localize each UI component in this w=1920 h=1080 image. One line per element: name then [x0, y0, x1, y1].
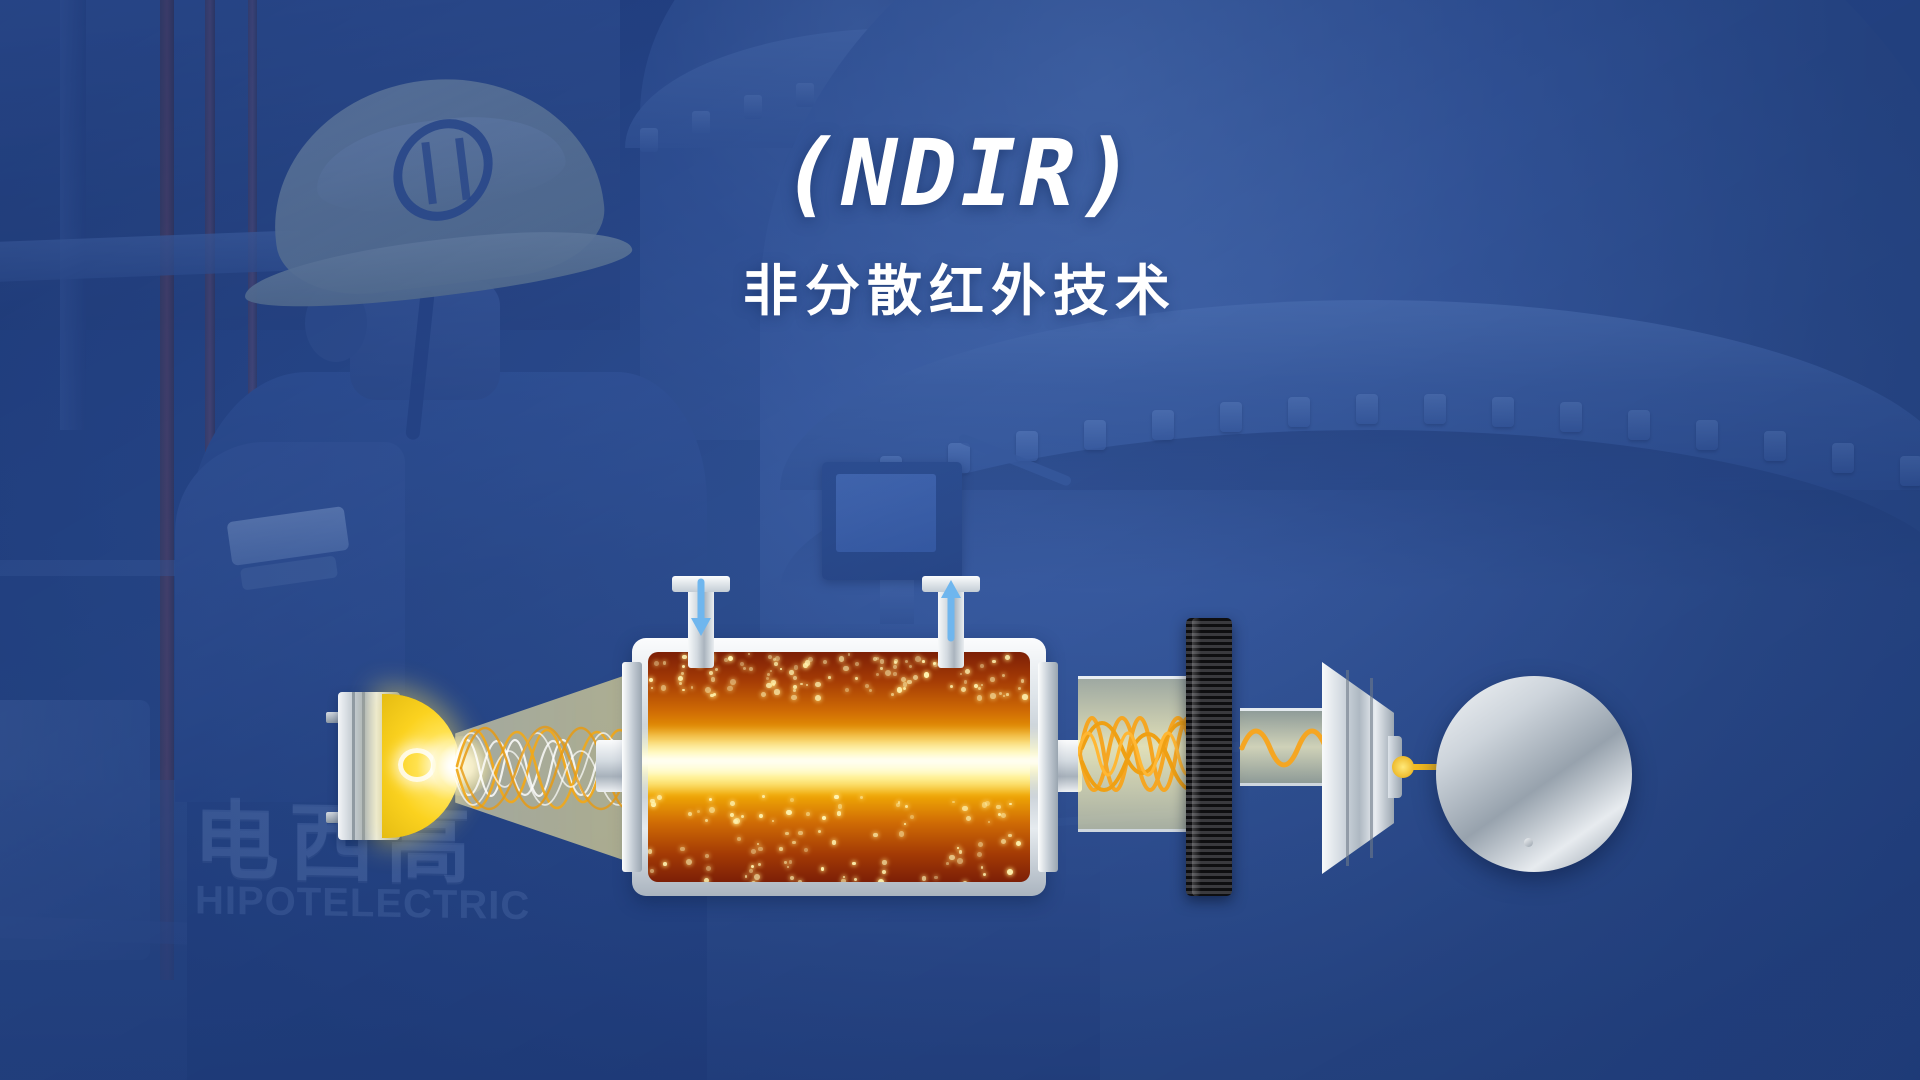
gas-molecule — [771, 680, 776, 685]
gas-molecule — [860, 796, 863, 799]
gas-molecule — [791, 695, 797, 701]
gas-molecule — [910, 815, 914, 819]
gas-molecule — [996, 805, 1001, 810]
gas-molecule — [804, 848, 808, 852]
gas-molecule — [876, 673, 879, 676]
gas-molecule — [960, 673, 963, 676]
gas-molecule — [767, 673, 770, 676]
gas-molecule — [748, 653, 750, 655]
gas-molecule — [697, 810, 700, 813]
gas-molecule — [905, 660, 908, 663]
gas-molecule — [786, 810, 792, 816]
gas-molecule — [950, 685, 953, 688]
gas-molecule — [837, 811, 842, 816]
gas-molecule — [648, 849, 652, 853]
gas-molecule — [711, 677, 716, 682]
gas-molecule — [663, 661, 667, 665]
slide-canvas: 电西高 HIPOTELECTRIC (NDIR) 非分散红外技术 — [0, 0, 1920, 1080]
gas-molecule — [893, 665, 897, 669]
arrow-down-icon — [686, 578, 716, 648]
gas-molecule — [897, 687, 902, 692]
gas-molecule — [772, 820, 774, 822]
gas-molecule — [882, 860, 887, 865]
gas-molecule — [1001, 813, 1006, 818]
gas-molecule — [946, 862, 949, 865]
gas-molecule — [894, 661, 897, 664]
gas-molecule — [682, 689, 684, 691]
gas-molecule — [983, 873, 986, 876]
gas-molecule — [988, 821, 990, 823]
gas-molecule — [899, 831, 905, 837]
gas-molecule — [1018, 687, 1021, 690]
gas-molecule — [1006, 693, 1009, 696]
gas-molecule — [806, 684, 808, 686]
gas-molecule — [904, 823, 907, 826]
ir-detector-cone — [1322, 662, 1394, 874]
gas-molecule — [855, 662, 859, 666]
gas-molecule — [978, 687, 981, 690]
gas-molecule — [651, 687, 653, 689]
gas-molecule — [681, 672, 683, 674]
gas-molecule — [709, 807, 715, 813]
gas-molecule — [922, 660, 925, 663]
gas-molecule — [949, 855, 954, 860]
gas-molecule — [898, 801, 900, 803]
gas-molecule — [880, 667, 882, 669]
detector-rib-1 — [1346, 670, 1349, 866]
signal-node — [1392, 756, 1414, 778]
gas-molecule — [965, 669, 970, 674]
gas-molecule — [730, 813, 734, 817]
gas-molecule — [1007, 869, 1013, 875]
gas-molecule — [818, 830, 821, 833]
gas-molecule — [1003, 695, 1005, 697]
gas-molecule — [682, 665, 685, 668]
gas-molecule — [679, 682, 682, 685]
gas-molecule — [985, 801, 990, 806]
gas-molecule — [845, 688, 850, 693]
gas-molecule — [793, 676, 798, 681]
gas-molecule — [903, 687, 906, 690]
gas-molecule — [794, 665, 799, 670]
gas-molecule — [688, 812, 692, 816]
gas-molecule — [787, 866, 789, 868]
source-ring-2 — [362, 692, 365, 840]
gas-molecule — [978, 842, 984, 848]
gas-molecule — [761, 692, 766, 697]
gas-molecule — [686, 859, 692, 865]
gas-molecule — [990, 677, 995, 682]
gas-molecule — [790, 876, 794, 880]
gas-molecule — [878, 879, 884, 882]
gas-molecule — [792, 841, 795, 844]
gas-molecule — [766, 683, 771, 688]
gas-molecule — [873, 833, 878, 838]
gas-molecule — [715, 668, 719, 672]
gas-molecule — [905, 805, 909, 809]
optical-filter-highlight — [1192, 618, 1201, 896]
gas-molecule — [999, 692, 1002, 695]
gas-molecule — [869, 689, 872, 692]
gas-molecule — [839, 656, 844, 661]
gas-molecule — [754, 874, 760, 880]
gas-molecule — [745, 875, 747, 877]
gas-molecule — [784, 861, 786, 863]
gas-molecule — [903, 682, 907, 686]
gas-molecule — [852, 862, 856, 866]
gas-molecule — [934, 876, 938, 880]
gas-molecule — [880, 659, 884, 663]
gas-molecule — [730, 801, 735, 806]
gas-molecule — [759, 814, 763, 818]
gas-molecule — [980, 664, 984, 668]
gas-molecule — [741, 815, 745, 819]
gas-molecule — [704, 878, 709, 882]
gas-molecule — [815, 682, 820, 687]
gas-molecule — [709, 798, 712, 801]
gas-molecule — [798, 831, 802, 835]
gas-molecule — [682, 655, 686, 659]
gas-molecule — [774, 689, 779, 694]
gas-molecule — [963, 881, 967, 882]
gas-molecule — [808, 657, 813, 662]
gas-molecule — [1001, 839, 1006, 844]
page-subtitle: 非分散红外技术 — [0, 246, 1920, 326]
gas-molecule — [865, 684, 869, 688]
gas-molecule — [768, 655, 772, 659]
gas-molecule — [751, 865, 755, 869]
gas-molecule — [770, 670, 773, 673]
gas-molecule — [649, 678, 653, 682]
gas-molecule — [650, 869, 654, 873]
gas-molecule — [962, 806, 967, 811]
gas-molecule — [705, 854, 709, 858]
chamber-beam-glow — [636, 726, 1046, 796]
gas-molecule — [780, 668, 783, 671]
gas-molecule — [798, 880, 802, 882]
gas-molecule — [822, 816, 826, 820]
gas-molecule — [749, 869, 753, 873]
gas-molecule — [654, 661, 659, 666]
source-ring-1 — [352, 692, 355, 840]
gas-molecule — [957, 858, 963, 864]
gas-molecule — [757, 843, 759, 845]
gas-molecule — [705, 819, 708, 822]
gas-molecule — [727, 686, 732, 691]
gas-molecule — [678, 676, 683, 681]
gas-molecule — [848, 653, 850, 655]
gas-molecule — [959, 850, 962, 853]
gas-molecule — [966, 816, 971, 821]
gas-molecule — [710, 694, 714, 698]
gas-molecule — [785, 832, 788, 835]
gas-molecule — [992, 660, 995, 663]
arrow-up-icon — [936, 572, 966, 642]
gas-molecule — [1008, 834, 1012, 838]
gas-molecule — [957, 847, 959, 849]
gas-molecule — [841, 879, 846, 882]
gas-molecule — [789, 670, 794, 675]
gas-molecule — [1005, 655, 1010, 660]
gas-molecule — [1009, 803, 1012, 806]
gauge-screw — [1524, 838, 1533, 847]
gas-molecule — [922, 876, 927, 881]
gas-molecule — [743, 667, 746, 670]
gas-molecule — [915, 656, 921, 662]
gas-molecule — [680, 847, 684, 851]
detector-rib-2 — [1370, 678, 1373, 858]
chamber-flange-right — [1038, 662, 1058, 872]
gas-molecule — [901, 677, 906, 682]
gas-molecule — [800, 683, 803, 686]
gas-molecule — [663, 862, 667, 866]
gas-molecule — [977, 852, 982, 857]
gas-molecule — [740, 662, 744, 666]
readout-gauge — [1436, 676, 1632, 872]
gas-molecule — [909, 665, 913, 669]
gas-molecule — [961, 687, 966, 692]
gas-molecule — [832, 840, 837, 845]
gas-molecule — [1021, 679, 1025, 683]
gas-molecule — [855, 677, 857, 679]
gas-molecule — [691, 686, 693, 688]
gas-molecule — [913, 675, 918, 680]
gas-molecule — [730, 679, 736, 685]
gas-molecule — [806, 812, 810, 816]
gas-molecule — [1022, 694, 1027, 699]
gas-molecule — [977, 695, 983, 701]
gas-molecule — [728, 656, 733, 661]
gas-molecule — [854, 878, 857, 881]
gas-molecule — [838, 804, 843, 809]
gas-molecule — [815, 695, 821, 701]
gas-molecule — [885, 670, 891, 676]
gas-molecule — [661, 685, 667, 691]
gas-molecule — [766, 677, 769, 680]
gas-molecule — [893, 672, 897, 676]
page-title: (NDIR) — [773, 128, 1147, 220]
gas-molecule — [706, 866, 711, 871]
chamber-flange-left — [622, 662, 642, 872]
gas-molecule — [882, 870, 886, 874]
gas-molecule — [876, 657, 879, 660]
gas-molecule — [705, 687, 711, 693]
gas-molecule — [779, 847, 783, 851]
gas-molecule — [749, 667, 753, 671]
gas-molecule — [758, 847, 762, 851]
gas-molecule — [843, 666, 848, 671]
gas-molecule — [774, 662, 778, 666]
gas-molecule — [651, 802, 655, 806]
gas-molecule — [964, 680, 967, 683]
gas-molecule — [981, 684, 983, 686]
gas-molecule — [907, 680, 912, 685]
gas-molecule — [823, 660, 827, 664]
gas-molecule — [751, 849, 756, 854]
gas-molecule — [981, 866, 984, 869]
gas-molecule — [952, 801, 955, 804]
gas-molecule — [1002, 674, 1005, 677]
gas-molecule — [709, 671, 713, 675]
ir-source-filament-icon — [398, 748, 436, 782]
gas-molecule — [990, 693, 995, 698]
gas-molecule — [758, 863, 762, 867]
gas-molecule — [751, 881, 756, 882]
gas-molecule — [1016, 841, 1021, 846]
title-block: (NDIR) 非分散红外技术 — [0, 128, 1920, 326]
gas-molecule — [793, 689, 796, 692]
gas-molecule — [821, 867, 824, 870]
gas-molecule — [790, 798, 795, 803]
gas-molecule — [924, 672, 930, 678]
gas-molecule — [891, 693, 894, 696]
gas-molecule — [789, 860, 792, 863]
gas-molecule — [828, 676, 831, 679]
gas-molecule — [737, 837, 741, 841]
